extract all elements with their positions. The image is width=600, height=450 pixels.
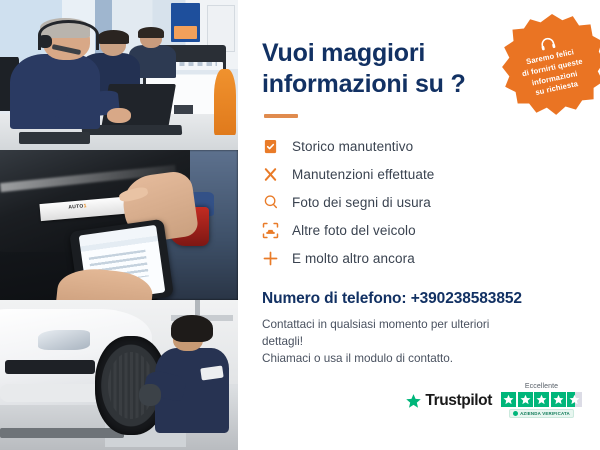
star-3	[534, 392, 549, 407]
content-panel: Vuoi maggiori informazioni su ? Storico …	[238, 0, 600, 450]
feature-label: Foto dei segni di usura	[292, 195, 431, 210]
car-grille	[5, 360, 95, 374]
badge-text: Saremo felici di fornirti queste informa…	[513, 45, 594, 102]
star-2	[518, 392, 533, 407]
phone-number-line: Numero di telefono: +390238583852	[262, 290, 574, 308]
headset-icon	[538, 36, 557, 52]
trustpilot-logo: Trustpilot	[405, 392, 492, 410]
car-headlight	[38, 330, 90, 350]
feature-item-storico-manutentivo: Storico manutentivo	[262, 132, 574, 160]
contact-subtext-line-1: Contattaci in qualsiasi momento per ulte…	[262, 318, 489, 348]
feature-item-manutenzioni-effettuate: Manutenzioni effettuate	[262, 160, 574, 188]
headline-line-2: informazioni su ?	[262, 70, 466, 98]
trustpilot-star-icon	[405, 393, 422, 409]
call-center-agents-photo	[0, 0, 238, 150]
promo-badge: Saremo felici di fornirti queste informa…	[500, 14, 600, 118]
photo-column: AUTO1	[0, 0, 238, 450]
magnifier-icon	[262, 194, 279, 211]
contact-subtext-line-2: Chiamaci o usa il modulo di contatto.	[262, 352, 453, 365]
verified-check-icon	[513, 411, 518, 416]
contact-info-banner: AUTO1	[0, 0, 600, 450]
headset-earcup	[38, 35, 52, 49]
trustpilot-wordmark: Trustpilot	[425, 392, 492, 410]
contact-subtext: Contattaci in qualsiasi momento per ulte…	[262, 317, 522, 368]
sticker-brand-text: AUTO1	[69, 203, 88, 211]
wall-poster	[171, 3, 200, 42]
feature-item-foto-segni-usura: Foto dei segni di usura	[262, 188, 574, 216]
trustpilot-rating-label: Eccellente	[525, 383, 558, 390]
star-1	[501, 392, 516, 407]
feature-item-altre-foto-veicolo: Altre foto del veicolo	[262, 216, 574, 244]
feature-list: Storico manutentivo Manutenzioni effettu…	[262, 132, 574, 272]
background-agent-1-hair	[98, 30, 129, 44]
mechanic-hair	[171, 315, 213, 343]
car-scan-frame-icon	[262, 222, 279, 239]
wrench-screwdriver-icon	[262, 166, 279, 183]
mechanic	[143, 312, 238, 450]
title-divider	[264, 114, 298, 118]
mechanic-glove	[139, 384, 161, 406]
verified-company-badge: AZIENDA VERIFICATA	[509, 409, 574, 418]
checked-document-icon	[262, 138, 279, 155]
foreground-agent-body	[10, 54, 100, 129]
car-bumper	[0, 384, 109, 402]
trustpilot-stars	[501, 392, 582, 407]
vehicle-inspection-sticker-photo: AUTO1	[0, 150, 238, 300]
keyboard	[19, 132, 90, 144]
star-5-partial	[567, 392, 582, 407]
headline-line-1: Vuoi maggiori	[262, 39, 425, 67]
verified-label: AZIENDA VERIFICATA	[520, 411, 570, 416]
feature-item-molto-altro: E molto altro ancora	[262, 244, 574, 272]
background-agent-2-hair	[138, 27, 164, 38]
plus-icon	[262, 250, 279, 267]
feature-label: Altre foto del veicolo	[292, 223, 416, 238]
badge-content: Saremo felici di fornirti queste informa…	[490, 4, 600, 127]
foreground-agent-hand	[107, 108, 131, 123]
feature-label: Storico manutentivo	[292, 139, 413, 154]
feature-label: E molto altro ancora	[292, 251, 415, 266]
star-4	[551, 392, 566, 407]
workshop-wheel-service-photo	[0, 300, 238, 450]
feature-label: Manutenzioni effettuate	[292, 167, 434, 182]
traffic-cone	[214, 69, 235, 135]
car-lift-ramp	[0, 428, 124, 439]
trustpilot-rating[interactable]: Trustpilot Eccellente AZIENDA VERIFICATA	[405, 383, 582, 418]
page-title: Vuoi maggiori informazioni su ?	[262, 38, 477, 99]
trustpilot-score-block: Eccellente AZIENDA VERIFICATA	[501, 383, 582, 418]
